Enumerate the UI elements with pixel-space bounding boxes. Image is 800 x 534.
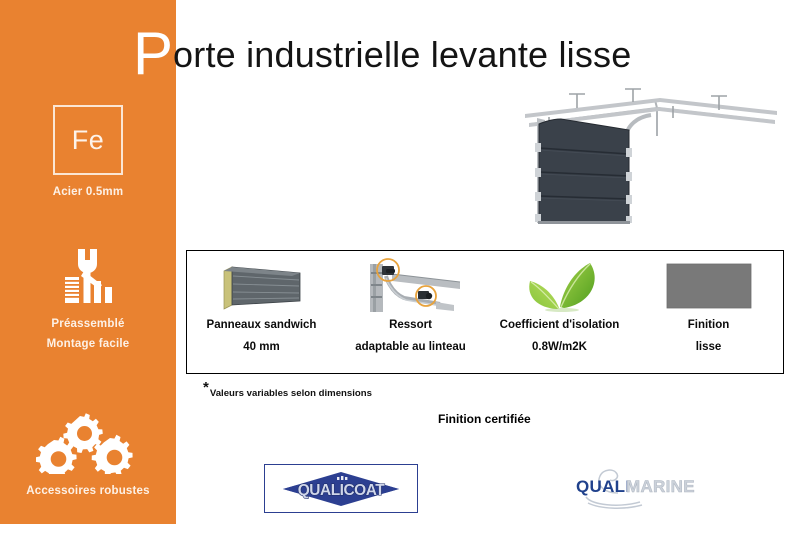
footnote-asterisk: * xyxy=(203,379,209,396)
sidebar-item-accessories-label: Accessoires robustes xyxy=(0,483,176,500)
page-title-rest: orte industrielle levante lisse xyxy=(173,34,631,75)
feature-value-insulation: 0.8W/m2K xyxy=(532,341,587,353)
qualimarine-logo: QUALI MARINE xyxy=(562,463,714,511)
sandwich-panel-image xyxy=(212,257,312,315)
sidebar-item-preassembled-label-1: Préassemblé xyxy=(0,316,176,333)
poster-page: Fe Acier 0.5mm xyxy=(0,0,800,534)
fe-badge-text: Fe xyxy=(72,125,105,156)
feature-column-insulation: Coefficient d'isolation 0.8W/m2K xyxy=(485,251,634,373)
svg-text:QUALICOAT: QUALICOAT xyxy=(298,482,386,499)
footnote: *Valeurs variables selon dimensions xyxy=(203,379,372,399)
features-panel: Panneaux sandwich 40 mm xyxy=(186,250,784,374)
sidebar-item-steel-label: Acier 0.5mm xyxy=(0,184,176,201)
svg-text:MARINE: MARINE xyxy=(626,477,695,496)
wrench-tools-icon xyxy=(0,245,176,307)
qualicoat-logo: QUALICOAT xyxy=(264,464,418,513)
feature-column-finish: Finition lisse xyxy=(634,251,783,373)
fe-element-box-icon: Fe xyxy=(53,105,123,175)
certification-heading: Finition certifiée xyxy=(438,412,531,426)
feature-label-finish: Finition xyxy=(688,319,730,331)
feature-label-spring: Ressort xyxy=(389,319,432,331)
svg-text:QUALI: QUALI xyxy=(576,477,630,496)
feature-value-spring: adaptable au linteau xyxy=(355,341,466,353)
page-title: Porte industrielle levante lisse xyxy=(133,24,631,85)
page-title-capital: P xyxy=(133,20,173,87)
sidebar-item-preassembled-label-2: Montage facile xyxy=(0,336,176,353)
finish-color-swatch xyxy=(663,257,755,315)
feature-label-insulation: Coefficient d'isolation xyxy=(500,319,620,331)
sectional-industrial-door-image xyxy=(505,88,790,230)
feature-label-panel: Panneaux sandwich xyxy=(207,319,317,331)
feature-column-spring: Ressort adaptable au linteau xyxy=(336,251,485,373)
sidebar-item-preassembled: Préassemblé Montage facile xyxy=(0,245,176,353)
feature-value-panel: 40 mm xyxy=(243,341,279,353)
spring-mechanism-image xyxy=(356,257,466,315)
feature-value-finish: lisse xyxy=(696,341,722,353)
green-leaves-icon xyxy=(512,257,608,315)
footnote-text: Valeurs variables selon dimensions xyxy=(210,388,372,399)
sidebar-item-steel: Fe Acier 0.5mm xyxy=(0,105,176,201)
gears-icon xyxy=(0,412,176,474)
sidebar-item-accessories: Accessoires robustes xyxy=(0,412,176,500)
feature-column-panel: Panneaux sandwich 40 mm xyxy=(187,251,336,373)
